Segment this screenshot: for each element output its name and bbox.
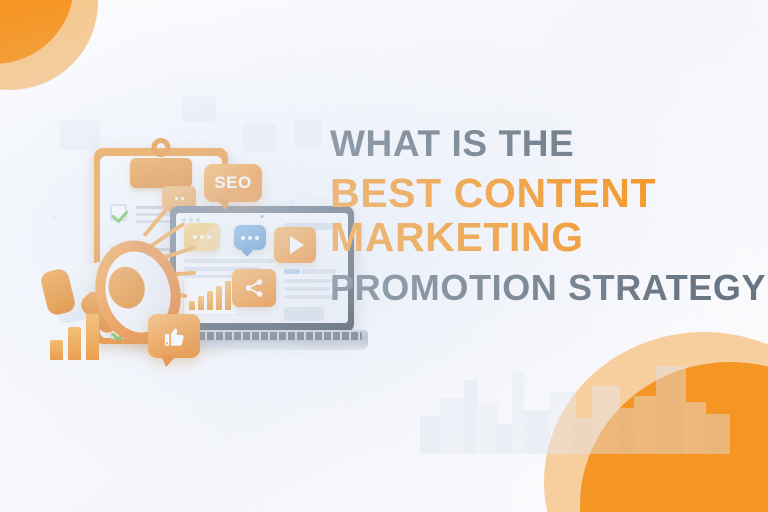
video-play-icon [274,227,316,263]
headline-block: WHAT IS THE BEST CONTENT MARKETING PROMO… [330,124,750,307]
thumbs-up-icon [161,323,187,349]
headline-line-3: MARKETING [330,216,750,259]
thumbs-up-badge [148,314,200,358]
clipboard-ring [152,138,171,157]
seo-badge: SEO [204,164,262,202]
laptop-screen [176,213,348,323]
clipboard-clasp [130,158,192,188]
seo-badge-label: SEO [214,173,251,193]
check-icon [110,204,127,221]
laptop-lid [170,206,354,332]
chat-icon [234,225,266,250]
trackpad [235,342,289,347]
share-icon [232,269,276,307]
browser-dots [182,218,200,222]
poster-canvas: ✦ ✦ [0,0,768,512]
webcam-icon [261,215,264,218]
play-icon [182,96,216,122]
city-skyline-silhouette [420,358,740,454]
headline-line-4: PROMOTION STRATEGY? [330,269,750,307]
growth-bar-chart [50,308,106,360]
marketing-illustration: SEO [44,120,354,380]
headline-line-2: BEST CONTENT [330,172,750,215]
headline-line-1: WHAT IS THE [330,124,750,163]
